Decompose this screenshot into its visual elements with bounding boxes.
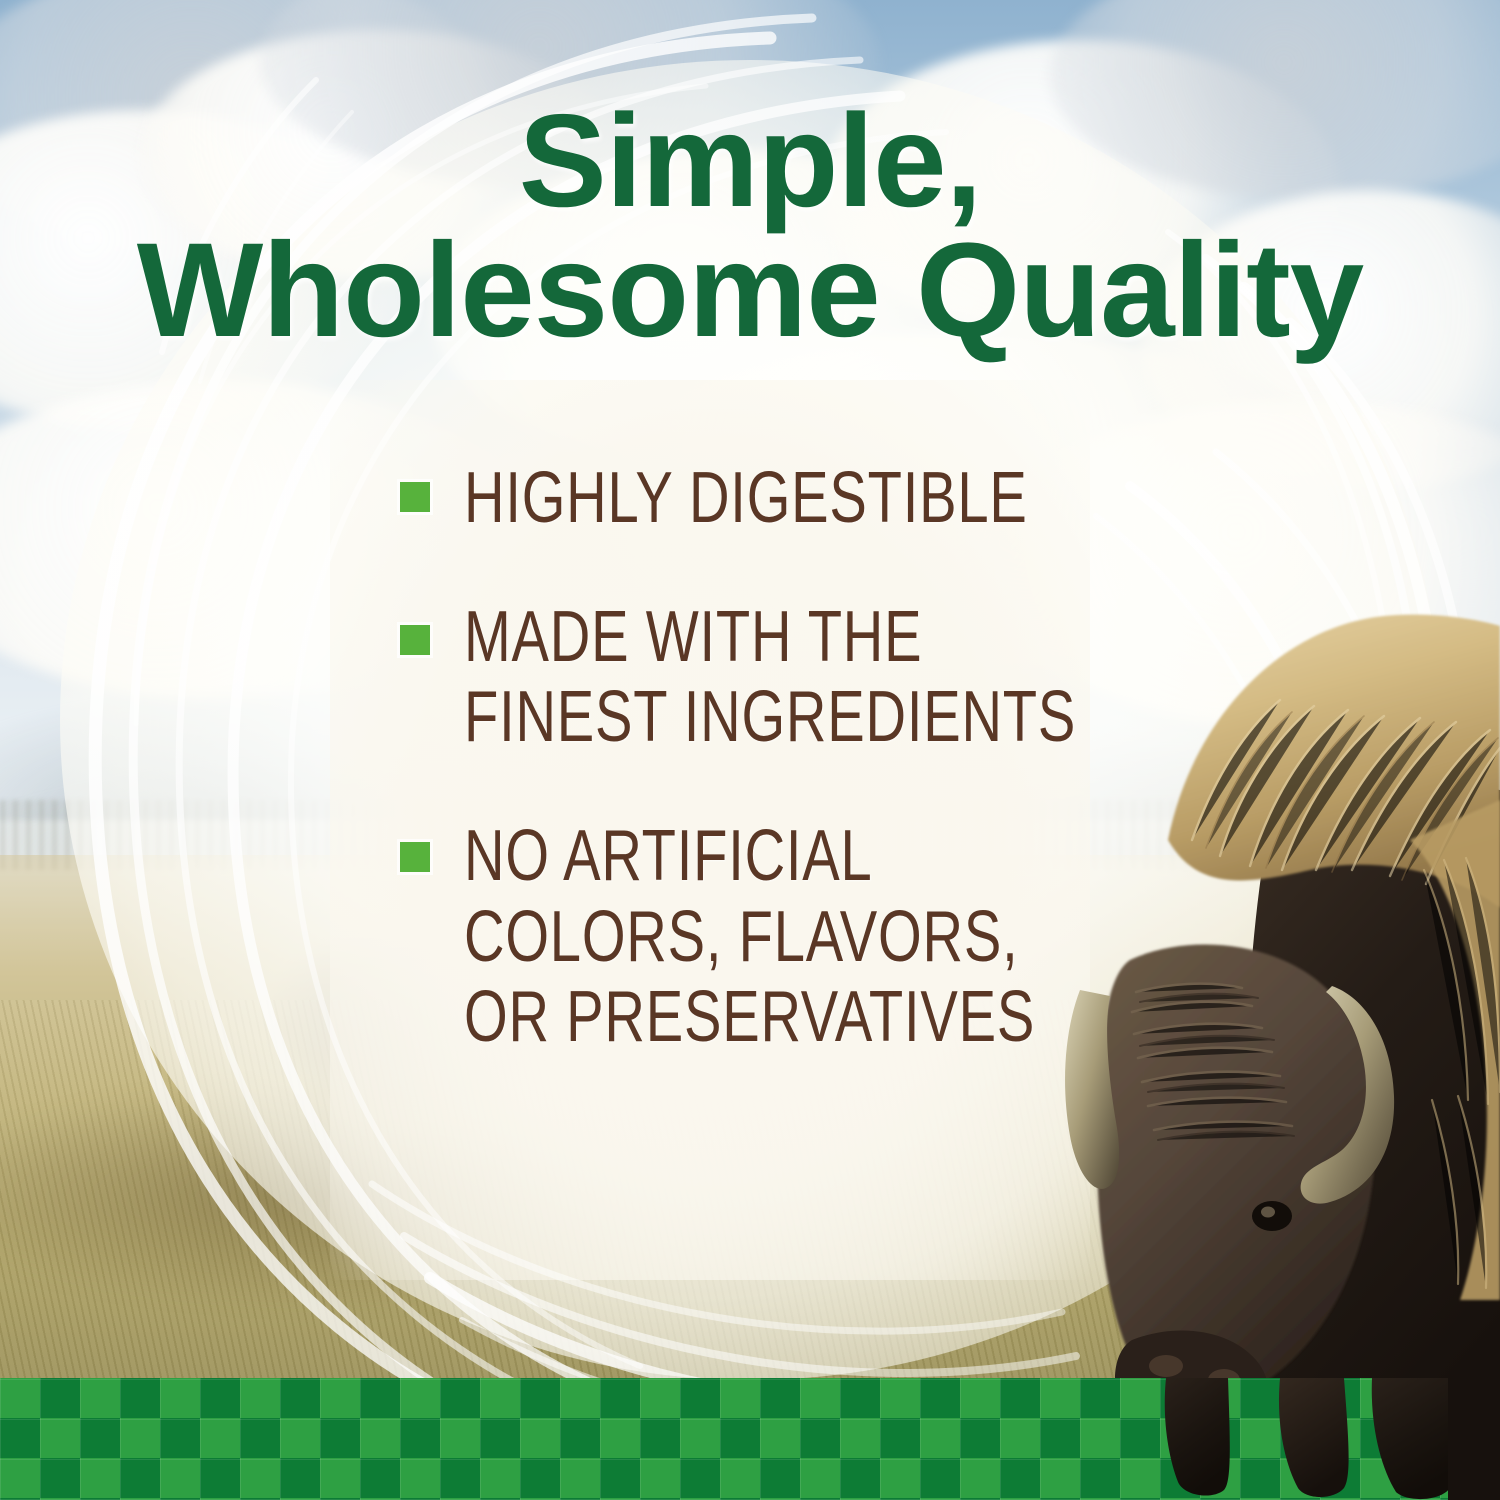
list-item-line: COLORS, FLAVORS, bbox=[464, 897, 1035, 978]
list-item-line: NO ARTIFICIAL bbox=[464, 816, 1035, 897]
feature-list: HIGHLY DIGESTIBLE MADE WITH THE FINEST I… bbox=[400, 458, 1080, 1058]
list-item-line: OR PRESERVATIVES bbox=[464, 977, 1035, 1058]
list-item-line: HIGHLY DIGESTIBLE bbox=[464, 458, 1028, 539]
green-square-bullet-icon bbox=[400, 625, 430, 655]
headline-line-2: Wholesome Quality bbox=[0, 225, 1500, 356]
green-square-bullet-icon bbox=[400, 842, 430, 872]
product-feature-poster: Simple, Wholesome Quality HIGHLY DIGESTI… bbox=[0, 0, 1500, 1500]
checkerboard-footer bbox=[0, 1378, 1500, 1500]
list-item: NO ARTIFICIAL COLORS, FLAVORS, OR PRESER… bbox=[400, 816, 1080, 1058]
list-item: HIGHLY DIGESTIBLE bbox=[400, 458, 1080, 539]
list-item-text: HIGHLY DIGESTIBLE bbox=[464, 458, 1028, 539]
list-item-text: NO ARTIFICIAL COLORS, FLAVORS, OR PRESER… bbox=[464, 816, 1035, 1058]
list-item: MADE WITH THE FINEST INGREDIENTS bbox=[400, 597, 1080, 758]
green-square-bullet-icon bbox=[400, 482, 430, 512]
page-title: Simple, Wholesome Quality bbox=[0, 96, 1500, 357]
checkerboard-grid-lines bbox=[0, 1378, 1500, 1500]
headline-line-1: Simple, bbox=[0, 96, 1500, 225]
list-item-line: MADE WITH THE bbox=[464, 597, 1076, 678]
list-item-text: MADE WITH THE FINEST INGREDIENTS bbox=[464, 597, 1076, 758]
list-item-line: FINEST INGREDIENTS bbox=[464, 677, 1076, 758]
